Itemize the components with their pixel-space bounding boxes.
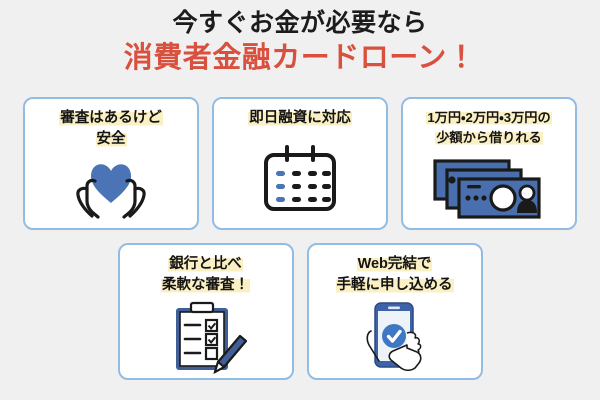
headline-line-2: 消費者金融カードローン！ [0,40,600,76]
card-screening-safe: 審査はあるけど 安全 [23,97,199,230]
card-title: Web完結で 手軽に申し込める [332,254,458,296]
card-title-line-1: 即日融資に対応 [248,110,352,126]
heart-in-hands-icon [25,150,197,228]
card-title-line-2: 柔軟な審査！ [161,277,250,293]
smartphone-check-icon [309,296,481,378]
headline-line-1: 今すぐお金が必要なら [0,8,600,39]
promo-poster: 今すぐお金が必要なら 消費者金融カードローン！ 審査はあるけど 安全 [0,0,600,400]
card-small-amount-loan: 1万円・2万円・3万円の 少額から借りれる [401,97,577,230]
card-title-line-1: 1万円・2万円・3万円の [426,110,551,125]
card-title-line-2: 安全 [96,131,127,147]
card-row-top: 審査はあるけど 安全 即日融資に対応 [0,97,600,230]
card-title-line-2: 手軽に申し込める [336,277,454,293]
card-row-bottom: 銀行と比べ 柔軟な審査！ [0,243,600,380]
card-title: 審査はあるけど 安全 [55,108,167,150]
card-title-line-1: Web完結で [357,256,433,272]
card-title: 1万円・2万円・3万円の 少額から借りれる [422,108,555,148]
headline: 今すぐお金が必要なら 消費者金融カードローン！ [0,8,600,76]
card-title-line-1: 審査はあるけど [59,110,163,126]
card-title-line-1: 銀行と比べ [168,256,243,272]
card-same-day-funding: 即日融資に対応 [212,97,388,230]
clipboard-checklist-icon [120,296,292,378]
calendar-icon [214,129,386,228]
banknotes-icon [403,148,575,228]
card-title: 銀行と比べ 柔軟な審査！ [157,254,254,296]
card-web-application: Web完結で 手軽に申し込める [307,243,483,380]
card-title-line-2: 少額から借りれる [435,130,543,145]
card-flexible-screening: 銀行と比べ 柔軟な審査！ [118,243,294,380]
card-title: 即日融資に対応 [244,108,356,129]
